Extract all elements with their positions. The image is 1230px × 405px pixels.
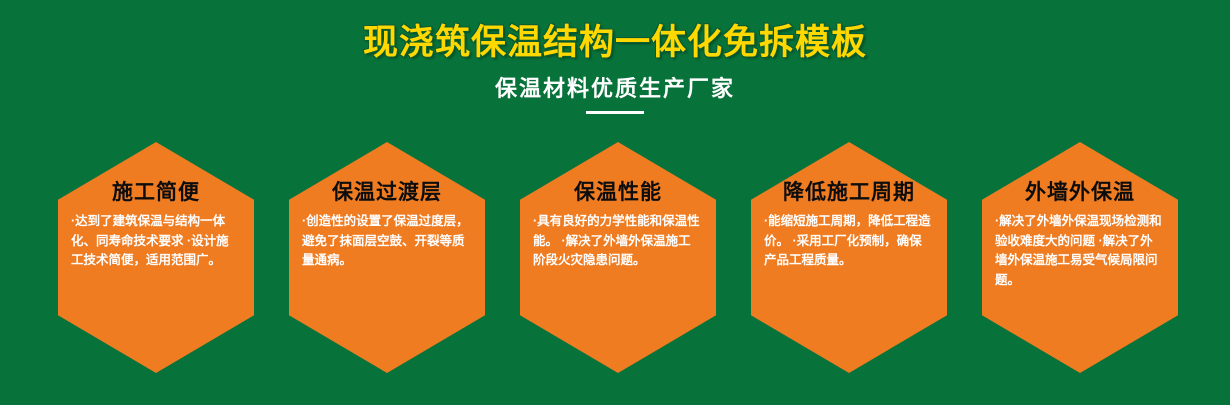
feature-body-3: ·具有良好的力学性能和保温性能。 ·解决了外墙外保温施工阶段火灾隐患问题。: [533, 212, 703, 271]
feature-hexagon-2[interactable]: 保温过渡层 ·创造性的设置了保温过度层，避免了抹面层空鼓、开裂等质量通病。: [289, 142, 485, 373]
feature-title-3: 保温性能: [520, 180, 716, 205]
feature-body-5: ·解决了外墙外保温现场检测和验收难度大的问题 ·解决了外墙外保温施工易受气候局限…: [995, 212, 1165, 290]
feature-title-2: 保温过渡层: [289, 180, 485, 205]
feature-hexagon-4[interactable]: 降低施工周期 ·能缩短施工周期，降低工程造价。 ·采用工厂化预制，确保产品工程质…: [751, 142, 947, 373]
feature-title-4: 降低施工周期: [751, 180, 947, 205]
page-subtitle: 保温材料优质生产厂家: [0, 74, 1230, 104]
feature-body-1: ·达到了建筑保温与结构一体化、同寿命技术要求 ·设计施工技术简便，适用范围广。: [71, 212, 241, 271]
page-title: 现浇筑保温结构一体化免拆模板: [0, 21, 1230, 65]
feature-hexagon-3[interactable]: 保温性能 ·具有良好的力学性能和保温性能。 ·解决了外墙外保温施工阶段火灾隐患问…: [520, 142, 716, 373]
feature-body-2: ·创造性的设置了保温过度层，避免了抹面层空鼓、开裂等质量通病。: [302, 212, 472, 271]
feature-hexagon-5[interactable]: 外墙外保温 ·解决了外墙外保温现场检测和验收难度大的问题 ·解决了外墙外保温施工…: [982, 142, 1178, 373]
feature-hexagon-row: 施工简便 ·达到了建筑保温与结构一体化、同寿命技术要求 ·设计施工技术简便，适用…: [0, 142, 1230, 374]
feature-title-1: 施工简便: [58, 180, 254, 205]
title-divider: [586, 111, 644, 114]
promo-banner: 现浇筑保温结构一体化免拆模板 保温材料优质生产厂家 施工简便 ·达到了建筑保温与…: [0, 0, 1230, 405]
feature-body-4: ·能缩短施工周期，降低工程造价。 ·采用工厂化预制，确保产品工程质量。: [764, 212, 934, 271]
feature-hexagon-1[interactable]: 施工简便 ·达到了建筑保温与结构一体化、同寿命技术要求 ·设计施工技术简便，适用…: [58, 142, 254, 373]
feature-title-5: 外墙外保温: [982, 180, 1178, 205]
